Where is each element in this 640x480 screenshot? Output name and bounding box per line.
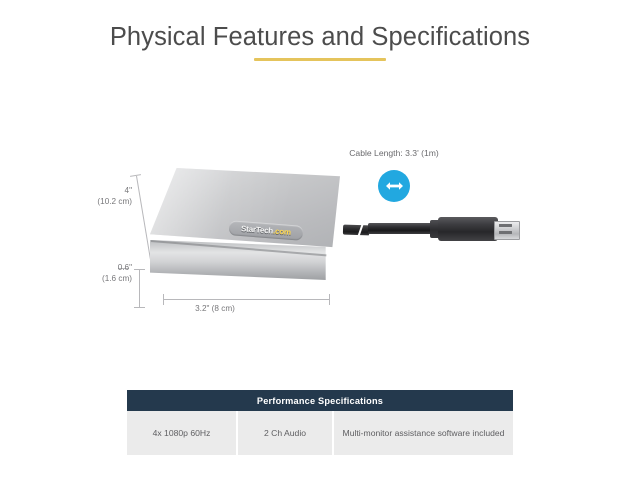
height-dimension-metric: (10.2 cm) bbox=[70, 197, 132, 208]
page-title: Physical Features and Specifications bbox=[0, 22, 640, 52]
usb-tip-slot-lower bbox=[499, 231, 512, 234]
title-accent-underline bbox=[254, 58, 386, 61]
spec-table-cell-audio: 2 Ch Audio bbox=[238, 411, 334, 455]
product-device: StarTech.com bbox=[150, 168, 350, 308]
spec-table-row: 4x 1080p 60Hz 2 Ch Audio Multi-monitor a… bbox=[127, 411, 513, 455]
spec-table-header: Performance Specifications bbox=[127, 390, 513, 411]
cable-length-callout: Cable Length: 3.3' (1m) bbox=[324, 148, 464, 202]
depth-dimension-tick-bottom bbox=[134, 307, 145, 308]
cable-length-label: Cable Length: 3.3' (1m) bbox=[324, 148, 464, 159]
performance-specifications-table: Performance Specifications 4x 1080p 60Hz… bbox=[127, 390, 513, 455]
usb-tip-slot-upper bbox=[499, 224, 512, 227]
depth-dimension-imperial: 0.6" bbox=[70, 263, 132, 274]
product-illustration: 4" (10.2 cm) 0.6" (1.6 cm) 3.2" (8 cm) S… bbox=[0, 120, 640, 335]
spec-table-cell-video: 4x 1080p 60Hz bbox=[127, 411, 238, 455]
depth-dimension-label: 0.6" (1.6 cm) bbox=[70, 263, 132, 284]
spec-table-header-title: Performance Specifications bbox=[257, 396, 383, 406]
depth-dimension-line bbox=[139, 269, 140, 308]
title-block: Physical Features and Specifications bbox=[0, 22, 640, 61]
height-dimension-imperial: 4" bbox=[70, 186, 132, 197]
spec-table-cell-software: Multi-monitor assistance software includ… bbox=[334, 411, 513, 455]
brand-logo-text: StarTech.com bbox=[241, 224, 291, 237]
depth-dimension-metric: (1.6 cm) bbox=[70, 274, 132, 285]
usb-connector-housing bbox=[438, 217, 498, 241]
depth-dimension-tick-top bbox=[134, 269, 145, 270]
brand-logo-name: StarTech bbox=[241, 224, 274, 235]
double-arrow-horizontal-icon bbox=[378, 170, 410, 202]
brand-logo-suffix: .com bbox=[273, 227, 292, 237]
height-dimension-label: 4" (10.2 cm) bbox=[70, 186, 132, 207]
